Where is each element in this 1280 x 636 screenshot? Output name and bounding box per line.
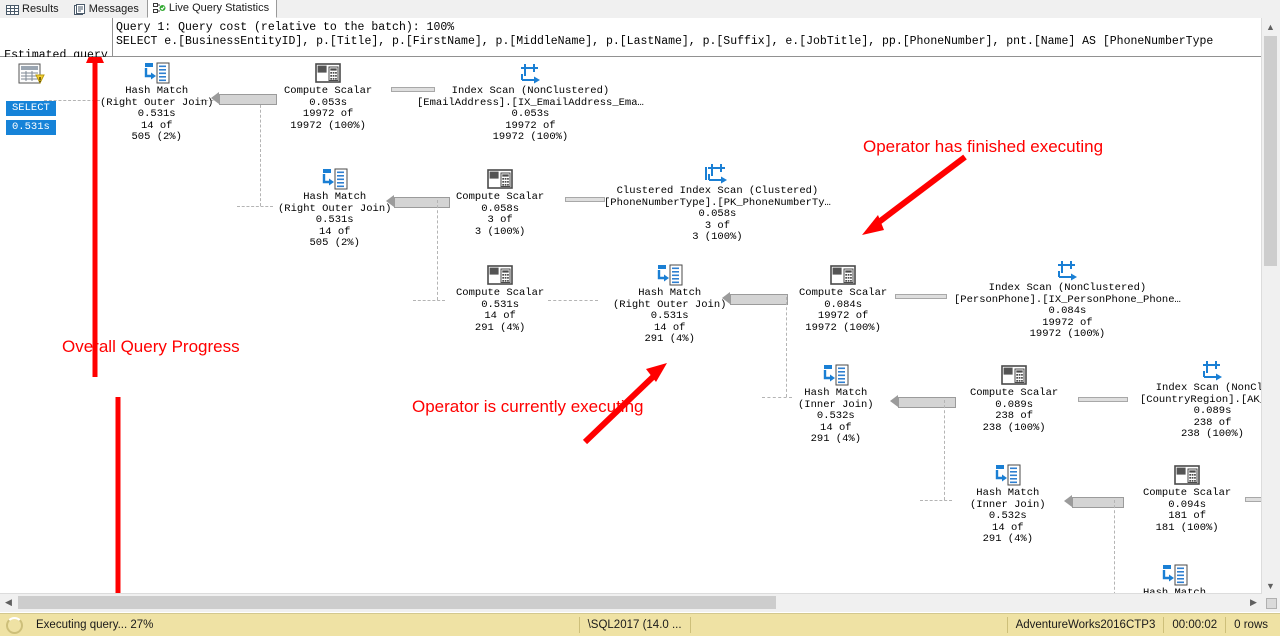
grid-icon <box>6 4 19 16</box>
tab-messages[interactable]: Messages <box>67 0 147 18</box>
tab-messages-label: Messages <box>89 4 139 15</box>
status-rows: 0 rows <box>1225 617 1280 633</box>
plan-vertical-scrollbar[interactable]: ▲ ▼ <box>1261 18 1280 594</box>
scroll-down-icon[interactable]: ▼ <box>1262 577 1279 594</box>
vertical-scroll-thumb[interactable] <box>1264 36 1277 266</box>
live-stats-icon <box>153 2 166 14</box>
scroll-right-icon[interactable]: ▶ <box>1245 594 1262 611</box>
status-elapsed: 00:00:02 <box>1163 617 1225 633</box>
execution-plan-canvas[interactable]: SELECT 0.531s Hash Match(Right Outer Joi… <box>0 57 1262 594</box>
query-text-block: Query 1: Query cost (relative to the bat… <box>116 18 1262 56</box>
status-user-segment <box>690 617 1007 633</box>
results-pane-tabstrip: Results Messages Live Query Statistics <box>0 0 1280 19</box>
annotation-operator-executing: Operator is currently executing <box>412 397 644 417</box>
estimated-query-progress-box: Estimated query progress:27% <box>0 18 113 56</box>
scroll-up-icon[interactable]: ▲ <box>1262 18 1279 35</box>
scrollbar-corner <box>1262 594 1280 612</box>
status-database: AdventureWorks2016CTP3 <box>1007 617 1164 633</box>
status-bar: Executing query... 27% \SQL2017 (14.0 ..… <box>0 613 1280 636</box>
tab-live-query-statistics-label: Live Query Statistics <box>169 3 269 14</box>
status-executing-text: Executing query... 27% <box>28 617 161 633</box>
status-server: \SQL2017 (14.0 ... <box>579 617 690 633</box>
resize-grip-icon[interactable] <box>1266 598 1277 609</box>
query-plan-header: Estimated query progress:27% Query 1: Qu… <box>0 18 1280 57</box>
scroll-left-icon[interactable]: ◀ <box>0 594 17 611</box>
executing-spinner-icon <box>6 617 23 634</box>
plan-horizontal-scrollbar[interactable]: ◀ ▶ <box>0 593 1262 612</box>
tab-live-query-statistics[interactable]: Live Query Statistics <box>147 0 277 18</box>
annotation-operator-finished: Operator has finished executing <box>863 137 1103 157</box>
tab-results-label: Results <box>22 4 59 15</box>
query-cost-line: Query 1: Query cost (relative to the bat… <box>116 21 1262 35</box>
query-select-line: SELECT e.[BusinessEntityID], p.[Title], … <box>116 35 1262 49</box>
horizontal-scroll-thumb[interactable] <box>18 596 776 609</box>
message-icon <box>73 4 86 16</box>
tab-results[interactable]: Results <box>0 0 67 18</box>
annotation-overall-query-progress: Overall Query Progress <box>62 337 240 357</box>
